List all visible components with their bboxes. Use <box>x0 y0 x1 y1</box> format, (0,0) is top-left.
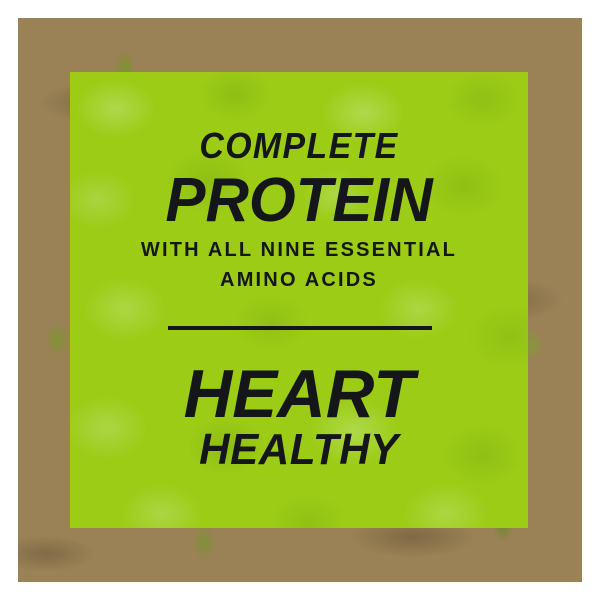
panel-content: COMPLETE PROTEIN WITH ALL NINE ESSENTIAL… <box>70 72 528 528</box>
benefit-line-healthy: HEALTHY <box>79 428 519 472</box>
poster-card: COMPLETE PROTEIN WITH ALL NINE ESSENTIAL… <box>0 0 600 600</box>
headline-line-complete: COMPLETE <box>84 128 515 164</box>
headline-line-protein: PROTEIN <box>77 170 521 232</box>
subhead-line-2: AMINO ACIDS <box>70 270 528 290</box>
green-overlay-panel: COMPLETE PROTEIN WITH ALL NINE ESSENTIAL… <box>70 72 528 528</box>
benefit-line-heart: HEART <box>72 360 525 428</box>
subhead-line-1: WITH ALL NINE ESSENTIAL <box>70 240 528 260</box>
section-divider-rule <box>168 326 432 330</box>
